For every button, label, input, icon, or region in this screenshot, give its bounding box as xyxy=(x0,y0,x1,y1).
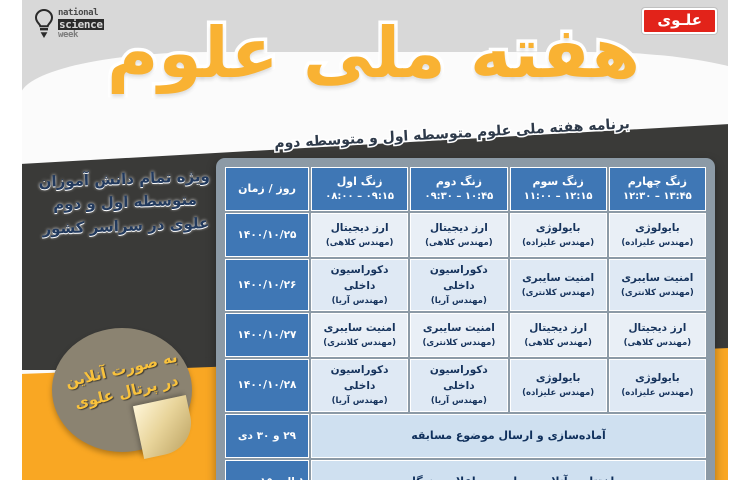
session-teacher: (مهندس آریا) xyxy=(314,295,405,308)
logo-wordmark: national science week xyxy=(58,9,104,40)
session-cell: امنیت سایبری (مهندس کلانتری) xyxy=(410,313,507,357)
row-date: ۱۴۰۰/۱۰/۲۶ xyxy=(225,259,309,311)
session-teacher: (مهندس کلاهی) xyxy=(413,237,504,250)
session-teacher: (مهندس آریا) xyxy=(413,295,504,308)
online-sticker: به صورت آنلاین در پرتال علوی xyxy=(52,328,202,458)
session-subject: ارز دیجیتال xyxy=(628,322,686,334)
session-subject: دکوراسیون داخلی xyxy=(430,364,488,392)
session-subject: دکوراسیون داخلی xyxy=(331,364,389,392)
session-subject: امنیت سایبری xyxy=(522,272,594,284)
footer-activity-text: اختتامیه آنلاین و داوری و اعلام برندگان xyxy=(311,460,706,480)
session-teacher: (مهندس آریا) xyxy=(314,395,405,408)
session-subject: ارز دیجیتال xyxy=(430,222,488,234)
schedule-head: زنگ چهارم ۱۳:۴۵ – ۱۲:۳۰ زنگ سوم ۱۲:۱۵ – … xyxy=(225,167,706,211)
session-teacher: (مهندس کلاهی) xyxy=(612,337,703,350)
session-cell: دکوراسیون داخلی (مهندس آریا) xyxy=(311,359,408,411)
column-header-day-time: روز / زمان xyxy=(225,167,309,211)
lightbulb-icon xyxy=(33,9,55,39)
session-subject: امنیت سایبری xyxy=(621,272,693,284)
logo-line-science: science xyxy=(58,19,104,30)
session-teacher: (مهندس کلانتری) xyxy=(513,287,604,300)
alavi-badge: علـوی xyxy=(642,8,717,34)
table-row: اختتامیه آنلاین و داوری و اعلام برندگان … xyxy=(225,460,706,480)
session-subject: بایولوژی xyxy=(536,372,581,384)
session-subject: امنیت سایبری xyxy=(423,322,495,334)
page-title: هفته ملی علوم xyxy=(107,18,640,88)
column-header-period-3-title: زنگ سوم xyxy=(532,175,583,188)
session-subject: بایولوژی xyxy=(635,372,680,384)
table-row: آماده‌سازی و ارسال موضوع مسابقه ۲۹ و ۳۰ … xyxy=(225,414,706,458)
footer-activity-text: آماده‌سازی و ارسال موضوع مسابقه xyxy=(311,414,706,458)
session-cell: دکوراسیون داخلی (مهندس آریا) xyxy=(311,259,408,311)
session-subject: بایولوژی xyxy=(635,222,680,234)
column-header-period-1: زنگ اول ۰۹:۱۵ – ۰۸:۰۰ xyxy=(311,167,408,211)
session-cell: امنیت سایبری (مهندس کلانتری) xyxy=(311,313,408,357)
session-teacher: (مهندس علیزاده) xyxy=(612,237,703,250)
session-teacher: (مهندس آریا) xyxy=(413,395,504,408)
column-header-period-2: زنگ دوم ۱۰:۴۵ – ۰۹:۳۰ xyxy=(410,167,507,211)
logo-line-week: week xyxy=(58,31,104,40)
schedule-panel: زنگ چهارم ۱۳:۴۵ – ۱۲:۳۰ زنگ سوم ۱۲:۱۵ – … xyxy=(216,158,715,480)
session-teacher: (مهندس کلاهی) xyxy=(513,337,604,350)
session-cell: بایولوژی (مهندس علیزاده) xyxy=(510,359,607,411)
session-subject: ارز دیجیتال xyxy=(529,322,587,334)
session-cell: ارز دیجیتال (مهندس کلاهی) xyxy=(510,313,607,357)
footer-row-date: ۲۹ و ۳۰ دی xyxy=(225,414,309,458)
session-teacher: (مهندس کلانتری) xyxy=(413,337,504,350)
session-cell: ارز دیجیتال (مهندس کلاهی) xyxy=(311,213,408,257)
session-teacher: (مهندس علیزاده) xyxy=(513,237,604,250)
session-teacher: (مهندس کلانتری) xyxy=(314,337,405,350)
column-header-period-4-time: ۱۳:۴۵ – ۱۲:۳۰ xyxy=(612,190,703,205)
session-teacher: (مهندس کلاهی) xyxy=(314,237,405,250)
session-subject: ارز دیجیتال xyxy=(331,222,389,234)
column-header-period-3-time: ۱۲:۱۵ – ۱۱:۰۰ xyxy=(513,190,604,205)
session-cell: بایولوژی (مهندس علیزاده) xyxy=(609,359,706,411)
table-row: امنیت سایبری (مهندس کلانتری) امنیت سایبر… xyxy=(225,259,706,311)
page-edge-left xyxy=(0,0,22,480)
row-date: ۱۴۰۰/۱۰/۲۵ xyxy=(225,213,309,257)
column-header-period-1-time: ۰۹:۱۵ – ۰۸:۰۰ xyxy=(314,190,405,205)
column-header-period-4-title: زنگ چهارم xyxy=(628,175,687,188)
session-subject: امنیت سایبری xyxy=(324,322,396,334)
column-header-period-2-title: زنگ دوم xyxy=(436,175,482,188)
hero-title-wrap: هفته ملی علوم xyxy=(107,18,640,88)
table-row: بایولوژی (مهندس علیزاده) بایولوژی (مهندس… xyxy=(225,359,706,411)
session-cell: دکوراسیون داخلی (مهندس آریا) xyxy=(410,259,507,311)
session-teacher: (مهندس کلانتری) xyxy=(612,287,703,300)
session-cell: دکوراسیون داخلی (مهندس آریا) xyxy=(410,359,507,411)
session-cell: بایولوژی (مهندس علیزاده) xyxy=(510,213,607,257)
schedule-body: بایولوژی (مهندس علیزاده) بایولوژی (مهندس… xyxy=(225,213,706,480)
column-header-period-3: زنگ سوم ۱۲:۱۵ – ۱۱:۰۰ xyxy=(510,167,607,211)
poster-canvas: national science week علـوی هفته ملی علو… xyxy=(0,0,750,480)
logo-line-national: national xyxy=(58,9,104,18)
session-cell: بایولوژی (مهندس علیزاده) xyxy=(609,213,706,257)
table-row: بایولوژی (مهندس علیزاده) بایولوژی (مهندس… xyxy=(225,213,706,257)
column-header-day-time-title: روز / زمان xyxy=(238,182,296,195)
table-row: ارز دیجیتال (مهندس کلاهی) ارز دیجیتال (م… xyxy=(225,313,706,357)
footer-row-date: ۱ الی ۱۵ بهمن xyxy=(225,460,309,480)
sticker-page-curl xyxy=(133,395,197,459)
row-date: ۱۴۰۰/۱۰/۲۷ xyxy=(225,313,309,357)
audience-note: ویژه تمام دانش آموزان متوسطه اول و دوم ع… xyxy=(29,165,221,241)
national-science-week-logo: national science week xyxy=(33,6,125,42)
session-cell: ارز دیجیتال (مهندس کلاهی) xyxy=(410,213,507,257)
session-cell: امنیت سایبری (مهندس کلانتری) xyxy=(510,259,607,311)
table-header-row: زنگ چهارم ۱۳:۴۵ – ۱۲:۳۰ زنگ سوم ۱۲:۱۵ – … xyxy=(225,167,706,211)
session-cell: امنیت سایبری (مهندس کلانتری) xyxy=(609,259,706,311)
session-subject: دکوراسیون داخلی xyxy=(331,264,389,292)
row-date: ۱۴۰۰/۱۰/۲۸ xyxy=(225,359,309,411)
column-header-period-2-time: ۱۰:۴۵ – ۰۹:۳۰ xyxy=(413,190,504,205)
page-edge-right xyxy=(728,0,750,480)
session-subject: دکوراسیون داخلی xyxy=(430,264,488,292)
session-cell: ارز دیجیتال (مهندس کلاهی) xyxy=(609,313,706,357)
column-header-period-4: زنگ چهارم ۱۳:۴۵ – ۱۲:۳۰ xyxy=(609,167,706,211)
column-header-period-1-title: زنگ اول xyxy=(337,175,383,188)
session-teacher: (مهندس علیزاده) xyxy=(513,387,604,400)
session-subject: بایولوژی xyxy=(536,222,581,234)
background-top-strip xyxy=(20,0,730,12)
schedule-table: زنگ چهارم ۱۳:۴۵ – ۱۲:۳۰ زنگ سوم ۱۲:۱۵ – … xyxy=(223,165,708,480)
session-teacher: (مهندس علیزاده) xyxy=(612,387,703,400)
